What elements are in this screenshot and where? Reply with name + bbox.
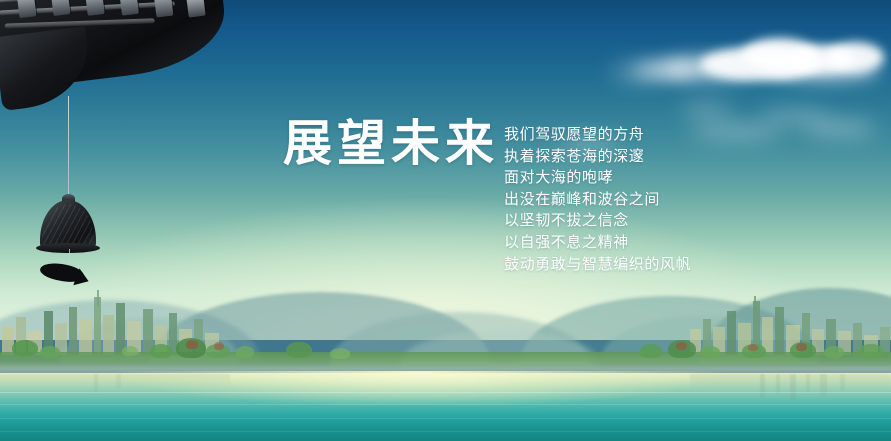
poem-line: 出没在巅峰和波谷之间: [504, 189, 724, 211]
right-skyline-spire: [754, 296, 756, 310]
poem-line: 以坚韧不拔之信念: [504, 210, 724, 232]
poem-line: 以自强不息之精神: [504, 232, 724, 254]
poem-line: 鼓动勇敢与智慧编织的风帆: [504, 254, 724, 276]
poem-block: 我们驾驭愿望的方舟 执着探索苍海的深邃 面对大海的咆哮 出没在巅峰和波谷之间 以…: [504, 124, 724, 275]
page-title: 展望未来: [283, 119, 499, 168]
bell-lip: [36, 243, 100, 253]
poem-line: 我们驾驭愿望的方舟: [504, 124, 724, 146]
poem-line: 执着探索苍海的深邃: [504, 146, 724, 168]
poem-line: 面对大海的咆哮: [504, 167, 724, 189]
poster-canvas: 展望未来 我们驾驭愿望的方舟 执着探索苍海的深邃 面对大海的咆哮 出没在巅峰和波…: [0, 0, 891, 441]
bell-hanging-wire: [68, 96, 69, 206]
eave-tip: [0, 26, 94, 111]
left-skyline-spire: [97, 290, 99, 306]
